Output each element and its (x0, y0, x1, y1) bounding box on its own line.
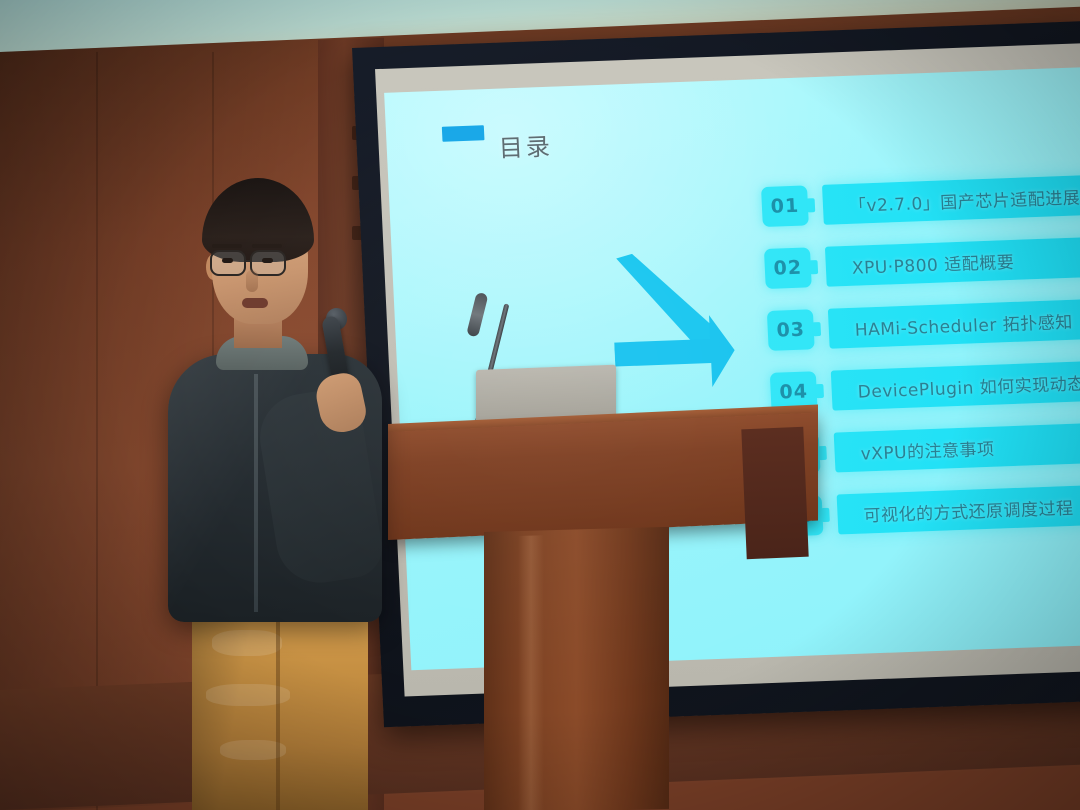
agenda-bar-04: DevicePlugin 如何实现动态切分 (831, 357, 1080, 410)
agenda-bar-05: vXPU的注意事项 (834, 419, 1080, 472)
agenda-label-06: 可视化的方式还原调度过程 (837, 493, 1074, 527)
agenda-label-02: XPU·P800 适配概要 (825, 247, 1014, 279)
speaker-brow-right (252, 244, 282, 248)
agenda-label-04: DevicePlugin 如何实现动态切分 (831, 368, 1080, 404)
agenda-label-05: vXPU的注意事项 (834, 434, 995, 465)
agenda-label-03: HAMi-Scheduler 拓扑感知 (828, 307, 1073, 341)
speaker-eye-left (222, 258, 233, 263)
agenda-item-02: 02 XPU·P800 适配概要 (764, 233, 1080, 289)
agenda-bar-01: 「v2.7.0」国产芯片适配进展 (822, 171, 1080, 224)
agenda-label-01: 「v2.7.0」国产芯片适配进展 (822, 183, 1080, 217)
speaker-brow-left (212, 244, 242, 248)
lectern-column (484, 527, 669, 810)
speaker-person (150, 178, 410, 810)
agenda-item-06: 06 可视化的方式还原调度过程 (776, 481, 1080, 537)
agenda-item-03: 03 HAMi-Scheduler 拓扑感知 (767, 295, 1080, 351)
title-accent-rectangle (442, 125, 485, 142)
speaker-nose (246, 270, 258, 292)
agenda-number-03: 03 (767, 309, 815, 351)
pants-fold-1 (212, 630, 282, 656)
lectern-highlight (518, 535, 544, 810)
agenda-bar-02: XPU·P800 适配概要 (825, 233, 1080, 286)
speaker-mouth (242, 298, 268, 308)
foreground-column (741, 427, 808, 559)
agenda-bar-06: 可视化的方式还原调度过程 (837, 481, 1080, 534)
glasses-lens-left (210, 250, 246, 276)
jacket-zipper (254, 374, 258, 612)
agenda-item-05: 05 vXPU的注意事项 (773, 419, 1080, 475)
slide-title: 目录 (498, 127, 554, 164)
speaker-eye-right (262, 258, 273, 263)
presentation-photo-scene: 目录 01 「v2.7.0」国产芯片适配进展 02 (0, 0, 1080, 810)
agenda-bar-03: HAMi-Scheduler 拓扑感知 (828, 295, 1080, 348)
agenda-number-01: 01 (761, 185, 809, 227)
glasses-bridge (246, 260, 252, 262)
pants-seam (276, 602, 280, 810)
right-arrow-icon (610, 250, 737, 394)
agenda-number-02: 02 (764, 247, 812, 289)
agenda-item-01: 01 「v2.7.0」国产芯片适配进展 (761, 171, 1080, 227)
